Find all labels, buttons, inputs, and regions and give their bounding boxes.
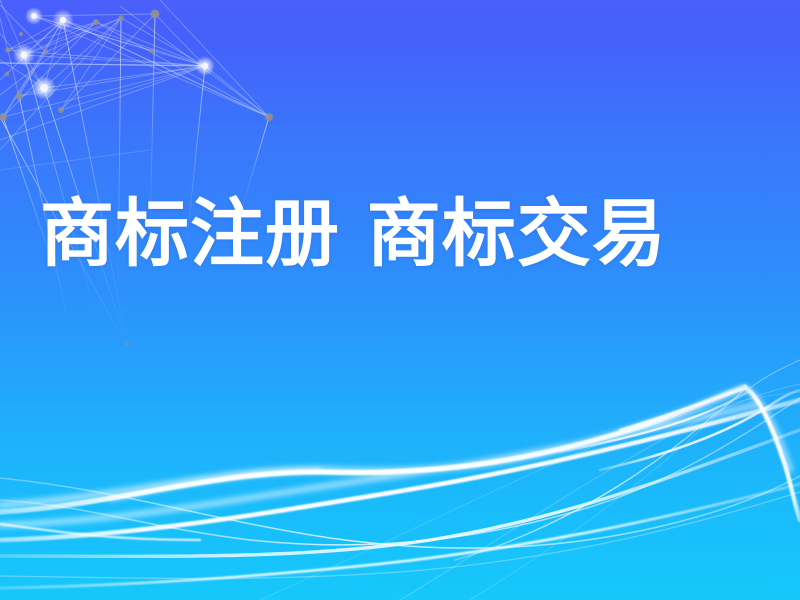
network-edges-fading xyxy=(0,14,269,348)
wave-ribbons xyxy=(0,360,800,600)
page-title: 商标注册 商标交易 xyxy=(40,197,667,271)
network-highlight-line xyxy=(0,63,208,66)
headline-block: 商标注册 商标交易 xyxy=(40,186,770,282)
network-nodes-dim xyxy=(0,10,273,347)
network-nodes-glow xyxy=(13,7,215,100)
wave-graphic xyxy=(0,0,800,600)
network-faint-line xyxy=(0,150,150,170)
network-edges xyxy=(0,0,269,150)
network-graphic xyxy=(0,0,800,600)
promo-banner: 商标注册 商标交易 xyxy=(0,0,800,600)
